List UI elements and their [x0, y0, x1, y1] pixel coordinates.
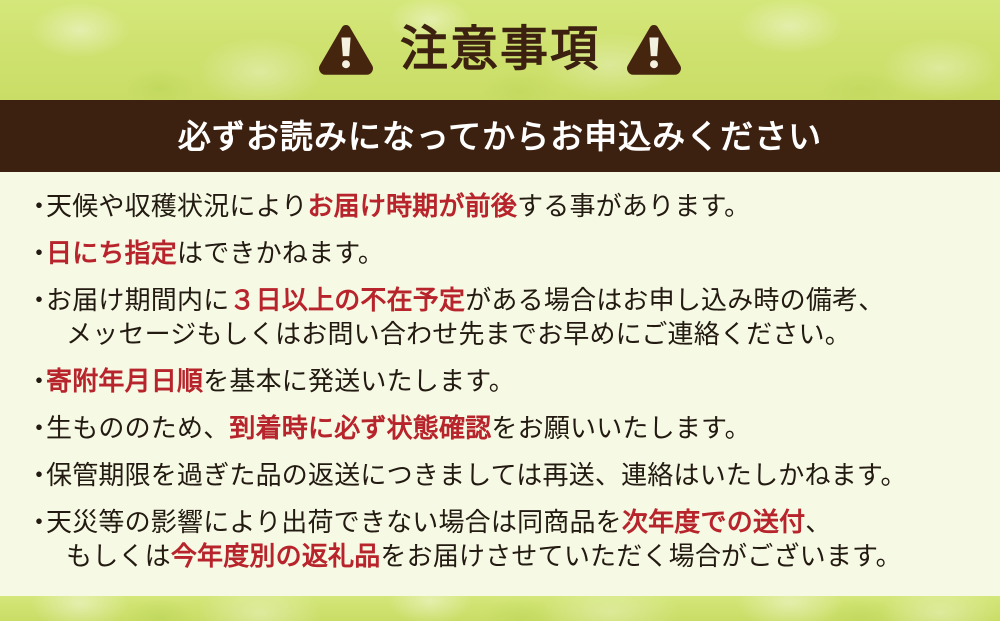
note-text: を基本に発送いたします。 — [203, 367, 515, 397]
note-bullet: ・ — [26, 237, 46, 271]
note-body: 日にち指定はできかねます。 — [46, 237, 978, 271]
note-text: をお願いいたします。 — [491, 414, 750, 444]
note-text: 、 — [805, 508, 831, 538]
note-text: 天候や収穫状況により — [46, 192, 307, 222]
page-title: 注意事項 — [400, 25, 600, 75]
note-item: ・天候や収穫状況によりお届け時期が前後する事があります。 — [26, 190, 978, 224]
note-body: 寄附年月日順を基本に発送いたします。 — [46, 365, 978, 399]
note-text: もしくは — [66, 542, 171, 572]
notice-banner: 注意事項 必ずお読みになってからお申込みください ・天候や収穫状況によりお届け時… — [0, 0, 1000, 621]
title-row: 注意事項 — [0, 0, 1000, 100]
note-line: 生もののため、到着時に必ず状態確認をお願いいたします。 — [46, 412, 978, 446]
footer-green-band — [0, 596, 1000, 621]
note-emphasis: 日にち指定 — [46, 239, 177, 269]
note-line: お届け期間内に３日以上の不在予定がある場合はお申し込み時の備考、 — [46, 284, 978, 318]
note-bullet: ・ — [26, 506, 46, 540]
note-text: メッセージもしくはお問い合わせ先までお早めにご連絡ください。 — [66, 320, 851, 350]
note-line: 天災等の影響により出荷できない場合は同商品を次年度での送付、 — [46, 506, 978, 540]
note-line: もしくは今年度別の返礼品をお届けさせていただく場合がございます。 — [46, 540, 978, 574]
note-text: をお届けさせていただく場合がございます。 — [380, 542, 901, 572]
note-body: 天災等の影響により出荷できない場合は同商品を次年度での送付、もしくは今年度別の返… — [46, 506, 978, 574]
note-line: メッセージもしくはお問い合わせ先までお早めにご連絡ください。 — [46, 318, 978, 352]
note-text: お届け期間内に — [46, 286, 229, 316]
note-line: 保管期限を過ぎた品の返送につきましては再送、連絡はいたしかねます。 — [46, 459, 978, 493]
note-body: 保管期限を過ぎた品の返送につきましては再送、連絡はいたしかねます。 — [46, 459, 978, 493]
note-line: 寄附年月日順を基本に発送いたします。 — [46, 365, 978, 399]
note-text: 天災等の影響により出荷できない場合は同商品を — [46, 508, 622, 538]
note-item: ・寄附年月日順を基本に発送いたします。 — [26, 365, 978, 399]
note-item: ・日にち指定はできかねます。 — [26, 237, 978, 271]
note-text: がある場合はお申し込み時の備考、 — [465, 286, 884, 316]
warning-triangle-icon-right — [626, 24, 682, 76]
note-emphasis: 到着時に必ず状態確認 — [229, 414, 491, 444]
note-emphasis: ３日以上の不在予定 — [229, 286, 465, 316]
note-line: 天候や収穫状況によりお届け時期が前後する事があります。 — [46, 190, 978, 224]
note-text: 保管期限を過ぎた品の返送につきましては再送、連絡はいたしかねます。 — [46, 461, 907, 491]
subtitle-band: 必ずお読みになってからお申込みください — [0, 100, 1000, 172]
note-bullet: ・ — [26, 459, 46, 493]
note-bullet: ・ — [26, 190, 46, 224]
note-emphasis: お届け時期が前後 — [307, 192, 517, 222]
note-bullet: ・ — [26, 412, 46, 446]
note-body: 天候や収穫状況によりお届け時期が前後する事があります。 — [46, 190, 978, 224]
note-item: ・生もののため、到着時に必ず状態確認をお願いいたします。 — [26, 412, 978, 446]
note-line: 日にち指定はできかねます。 — [46, 237, 978, 271]
warning-triangle-icon-left — [318, 24, 374, 76]
note-bullet: ・ — [26, 284, 46, 318]
note-emphasis: 寄附年月日順 — [46, 367, 203, 397]
note-text: する事があります。 — [517, 192, 750, 222]
subtitle-text: 必ずお読みになってからお申込みください — [178, 120, 822, 153]
note-item: ・保管期限を過ぎた品の返送につきましては再送、連絡はいたしかねます。 — [26, 459, 978, 493]
note-text: はできかねます。 — [177, 239, 384, 269]
note-emphasis: 今年度別の返礼品 — [171, 542, 381, 572]
note-item: ・お届け期間内に３日以上の不在予定がある場合はお申し込み時の備考、メッセージもし… — [26, 284, 978, 352]
notes-list: ・天候や収穫状況によりお届け時期が前後する事があります。・日にち指定はできかねま… — [0, 172, 1000, 596]
note-body: 生もののため、到着時に必ず状態確認をお願いいたします。 — [46, 412, 978, 446]
note-emphasis: 次年度での送付 — [622, 508, 805, 538]
note-item: ・天災等の影響により出荷できない場合は同商品を次年度での送付、もしくは今年度別の… — [26, 506, 978, 574]
note-bullet: ・ — [26, 365, 46, 399]
note-text: 生もののため、 — [46, 414, 229, 444]
note-body: お届け期間内に３日以上の不在予定がある場合はお申し込み時の備考、メッセージもしく… — [46, 284, 978, 352]
